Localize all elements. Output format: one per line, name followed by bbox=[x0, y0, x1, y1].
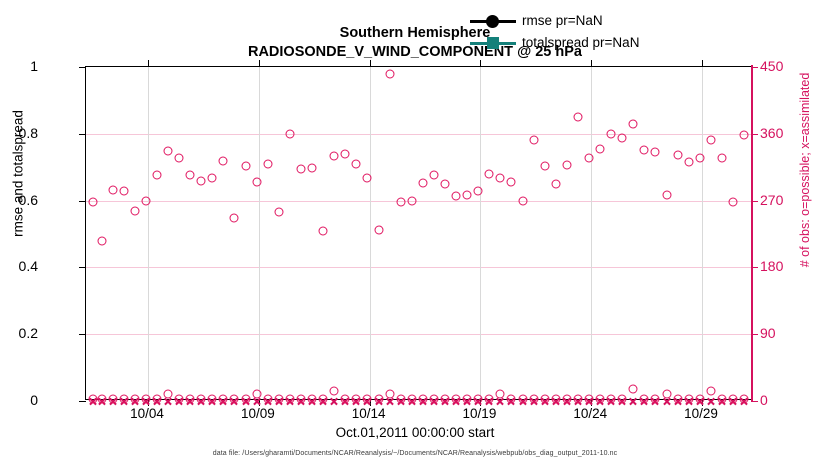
data-point-possible bbox=[562, 394, 571, 403]
data-point-possible bbox=[740, 131, 749, 140]
data-point-possible bbox=[485, 394, 494, 403]
data-point-possible bbox=[695, 394, 704, 403]
data-point-possible bbox=[496, 173, 505, 182]
data-point-possible bbox=[418, 394, 427, 403]
data-point-possible bbox=[108, 394, 117, 403]
data-point-possible bbox=[695, 153, 704, 162]
data-point-assimilated bbox=[706, 397, 715, 406]
bottom-axis-tick-label: 10/29 bbox=[684, 406, 718, 421]
tick-mark-top bbox=[702, 60, 703, 67]
gridline-horizontal bbox=[86, 334, 751, 335]
data-point-possible bbox=[684, 394, 693, 403]
plot-area bbox=[85, 66, 752, 400]
tick-mark-top bbox=[480, 60, 481, 67]
data-point-possible bbox=[729, 198, 738, 207]
legend-item[interactable]: rmse pr=NaN bbox=[470, 10, 655, 32]
data-point-possible bbox=[141, 197, 150, 206]
data-point-possible bbox=[429, 171, 438, 180]
data-point-possible bbox=[108, 186, 117, 195]
data-point-possible bbox=[219, 394, 228, 403]
data-point-possible bbox=[618, 394, 627, 403]
data-point-possible bbox=[208, 174, 217, 183]
data-point-possible bbox=[385, 69, 394, 78]
legend-circle-icon bbox=[486, 15, 499, 28]
data-point-possible bbox=[684, 158, 693, 167]
data-point-possible bbox=[152, 171, 161, 180]
data-point-possible bbox=[97, 237, 106, 246]
data-point-possible bbox=[673, 151, 682, 160]
data-point-possible bbox=[518, 394, 527, 403]
tick-mark-left bbox=[79, 201, 86, 202]
gridline-horizontal bbox=[86, 267, 751, 268]
gridline-horizontal bbox=[86, 201, 751, 202]
data-point-possible bbox=[407, 196, 416, 205]
data-point-possible bbox=[296, 165, 305, 174]
data-point-possible bbox=[197, 177, 206, 186]
data-point-possible bbox=[540, 394, 549, 403]
data-point-possible bbox=[319, 394, 328, 403]
data-point-possible bbox=[474, 394, 483, 403]
data-point-possible bbox=[252, 390, 261, 399]
tick-mark-left bbox=[79, 267, 86, 268]
legend-label: totalspread pr=NaN bbox=[522, 32, 639, 54]
data-point-possible bbox=[130, 206, 139, 215]
data-point-possible bbox=[175, 153, 184, 162]
legend-label: rmse pr=NaN bbox=[522, 10, 603, 32]
data-point-possible bbox=[585, 394, 594, 403]
data-point-possible bbox=[629, 120, 638, 129]
data-point-possible bbox=[529, 394, 538, 403]
data-point-possible bbox=[551, 394, 560, 403]
data-point-possible bbox=[706, 136, 715, 145]
data-point-possible bbox=[396, 198, 405, 207]
data-point-possible bbox=[717, 394, 726, 403]
data-point-possible bbox=[374, 226, 383, 235]
tick-mark-top bbox=[591, 60, 592, 67]
bottom-axis-tick-label: 10/14 bbox=[352, 406, 386, 421]
right-axis-title: # of obs: o=possible; x=assimilated bbox=[798, 0, 812, 420]
data-point-possible bbox=[308, 394, 317, 403]
data-point-possible bbox=[352, 160, 361, 169]
legend-square-icon bbox=[487, 37, 499, 49]
gridline-vertical bbox=[148, 67, 149, 399]
data-point-possible bbox=[507, 394, 516, 403]
data-point-possible bbox=[230, 214, 239, 223]
bottom-axis-tick-label: 10/24 bbox=[573, 406, 607, 421]
data-point-possible bbox=[596, 394, 605, 403]
data-point-possible bbox=[186, 394, 195, 403]
data-point-possible bbox=[274, 394, 283, 403]
right-axis-line bbox=[751, 65, 753, 401]
data-point-possible bbox=[618, 134, 627, 143]
tick-mark-top bbox=[259, 60, 260, 67]
tick-mark-left bbox=[79, 67, 86, 68]
data-point-possible bbox=[452, 394, 461, 403]
data-point-possible bbox=[241, 161, 250, 170]
data-point-possible bbox=[230, 394, 239, 403]
data-point-possible bbox=[463, 191, 472, 200]
data-point-possible bbox=[529, 135, 538, 144]
data-point-possible bbox=[285, 129, 294, 138]
tick-mark-top bbox=[148, 60, 149, 67]
tick-mark-left bbox=[79, 134, 86, 135]
data-point-possible bbox=[551, 180, 560, 189]
tick-mark-left bbox=[79, 334, 86, 335]
data-point-possible bbox=[385, 390, 394, 399]
data-point-possible bbox=[363, 173, 372, 182]
data-point-possible bbox=[141, 394, 150, 403]
tick-mark-top bbox=[370, 60, 371, 67]
data-point-possible bbox=[474, 186, 483, 195]
bottom-axis-tick-label: 10/19 bbox=[463, 406, 497, 421]
data-point-possible bbox=[219, 156, 228, 165]
data-point-possible bbox=[518, 196, 527, 205]
data-point-possible bbox=[208, 394, 217, 403]
tick-mark-right bbox=[751, 401, 758, 402]
data-point-possible bbox=[496, 390, 505, 399]
data-point-possible bbox=[285, 394, 294, 403]
data-point-possible bbox=[296, 394, 305, 403]
left-axis-title: rmse and totalspread bbox=[11, 0, 26, 424]
data-point-possible bbox=[452, 192, 461, 201]
data-point-possible bbox=[186, 171, 195, 180]
data-point-possible bbox=[662, 190, 671, 199]
data-point-possible bbox=[607, 129, 616, 138]
legend-item[interactable]: totalspread pr=NaN bbox=[470, 32, 655, 54]
data-point-possible bbox=[662, 390, 671, 399]
data-point-possible bbox=[241, 394, 250, 403]
data-point-possible bbox=[673, 394, 682, 403]
data-point-possible bbox=[485, 169, 494, 178]
gridline-vertical bbox=[259, 67, 260, 399]
data-point-possible bbox=[152, 394, 161, 403]
data-point-possible bbox=[163, 390, 172, 399]
bottom-axis-title: Oct.01,2011 00:00:00 start bbox=[0, 425, 830, 440]
gridline-vertical bbox=[591, 67, 592, 399]
data-point-possible bbox=[507, 178, 516, 187]
data-point-possible bbox=[274, 207, 283, 216]
data-point-possible bbox=[717, 153, 726, 162]
data-point-possible bbox=[640, 394, 649, 403]
data-point-possible bbox=[88, 198, 97, 207]
legend: rmse pr=NaNtotalspread pr=NaN bbox=[470, 10, 655, 54]
data-point-possible bbox=[651, 147, 660, 156]
data-point-possible bbox=[88, 394, 97, 403]
data-point-possible bbox=[440, 394, 449, 403]
data-point-possible bbox=[706, 386, 715, 395]
data-point-possible bbox=[263, 394, 272, 403]
data-point-possible bbox=[263, 160, 272, 169]
chart-title-line1: Southern Hemisphere bbox=[0, 25, 830, 41]
data-point-possible bbox=[585, 154, 594, 163]
data-point-possible bbox=[363, 394, 372, 403]
data-point-possible bbox=[374, 394, 383, 403]
data-point-possible bbox=[163, 146, 172, 155]
data-point-possible bbox=[396, 394, 405, 403]
chart-canvas: Southern Hemisphere RADIOSONDE_V_WIND_CO… bbox=[0, 0, 830, 470]
data-point-possible bbox=[252, 178, 261, 187]
data-point-possible bbox=[352, 394, 361, 403]
data-point-possible bbox=[119, 394, 128, 403]
data-point-possible bbox=[330, 152, 339, 161]
data-point-possible bbox=[573, 113, 582, 122]
data-point-possible bbox=[407, 394, 416, 403]
gridline-vertical bbox=[702, 67, 703, 399]
data-point-possible bbox=[308, 163, 317, 172]
data-point-possible bbox=[175, 394, 184, 403]
data-point-possible bbox=[640, 146, 649, 155]
data-point-possible bbox=[197, 394, 206, 403]
datafile-footnote: data file: /Users/gharamti/Documents/NCA… bbox=[0, 450, 830, 457]
data-point-possible bbox=[440, 180, 449, 189]
gridline-vertical bbox=[480, 67, 481, 399]
data-point-possible bbox=[341, 394, 350, 403]
data-point-possible bbox=[562, 160, 571, 169]
data-point-possible bbox=[729, 394, 738, 403]
data-point-possible bbox=[596, 145, 605, 154]
gridline-vertical bbox=[370, 67, 371, 399]
data-point-assimilated bbox=[629, 397, 638, 406]
bottom-axis-tick-label: 10/04 bbox=[130, 406, 164, 421]
data-point-possible bbox=[429, 394, 438, 403]
data-point-possible bbox=[607, 394, 616, 403]
bottom-axis-tick-label: 10/09 bbox=[241, 406, 275, 421]
data-point-possible bbox=[651, 394, 660, 403]
data-point-possible bbox=[629, 385, 638, 394]
data-point-possible bbox=[740, 394, 749, 403]
data-point-possible bbox=[341, 149, 350, 158]
data-point-possible bbox=[418, 178, 427, 187]
data-point-assimilated bbox=[330, 397, 339, 406]
data-point-possible bbox=[573, 394, 582, 403]
chart-title-line2: RADIOSONDE_V_WIND_COMPONENT @ 25 hPa bbox=[0, 44, 830, 60]
data-point-possible bbox=[319, 227, 328, 236]
data-point-possible bbox=[540, 161, 549, 170]
data-point-possible bbox=[119, 186, 128, 195]
data-point-possible bbox=[130, 394, 139, 403]
data-point-possible bbox=[330, 386, 339, 395]
tick-mark-left bbox=[79, 401, 86, 402]
gridline-horizontal bbox=[86, 134, 751, 135]
data-point-possible bbox=[97, 394, 106, 403]
data-point-possible bbox=[463, 394, 472, 403]
